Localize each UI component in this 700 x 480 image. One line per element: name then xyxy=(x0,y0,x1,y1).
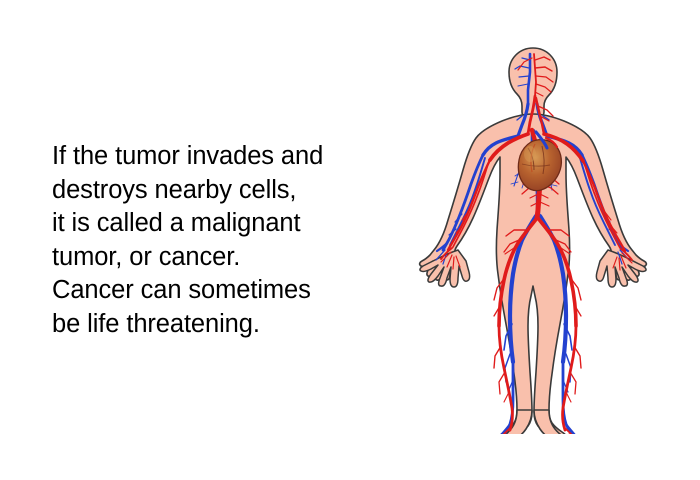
left-calf-artery-branch-b xyxy=(499,372,505,394)
heart-highlight xyxy=(524,146,536,162)
caption-text: If the tumor invades and destroys nearby… xyxy=(52,140,392,341)
circulatory-system-illustration xyxy=(418,24,648,434)
left-calf-artery-branch-c xyxy=(504,392,509,402)
slide-canvas: If the tumor invades and destroys nearby… xyxy=(0,0,700,480)
circulatory-system-svg xyxy=(418,24,648,434)
right-calf-artery-branch-c xyxy=(566,392,571,402)
